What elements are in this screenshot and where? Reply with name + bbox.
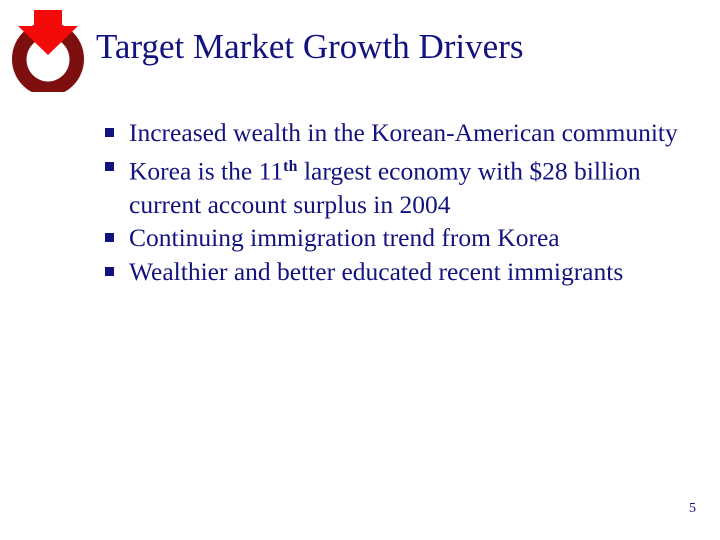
- list-item-label: Korea is the 11th largest economy with $…: [129, 150, 710, 222]
- list-item-label-part-before: Korea is the 11: [129, 156, 283, 185]
- list-item: Wealthier and better educated recent imm…: [100, 255, 710, 289]
- list-item-label: Continuing immigration trend from Korea: [129, 221, 710, 255]
- bullet-list: Increased wealth in the Korean-American …: [100, 116, 710, 288]
- list-item: Increased wealth in the Korean-American …: [100, 116, 710, 150]
- square-bullet-icon: [105, 267, 114, 276]
- page-number: 5: [689, 501, 696, 517]
- page-title: Target Market Growth Drivers: [96, 25, 706, 69]
- list-item: Korea is the 11th largest economy with $…: [100, 150, 710, 222]
- square-bullet-icon: [105, 233, 114, 242]
- ring-with-down-arrow-logo: [10, 8, 86, 92]
- square-bullet-icon: [105, 162, 114, 171]
- list-item-label: Wealthier and better educated recent imm…: [129, 255, 710, 289]
- logo-graphic: [10, 8, 86, 92]
- list-item-label: Increased wealth in the Korean-American …: [129, 116, 710, 150]
- slide-canvas: Target Market Growth Drivers Increased w…: [0, 0, 720, 540]
- ordinal-superscript: th: [283, 158, 297, 175]
- square-bullet-icon: [105, 128, 114, 137]
- list-item: Continuing immigration trend from Korea: [100, 221, 710, 255]
